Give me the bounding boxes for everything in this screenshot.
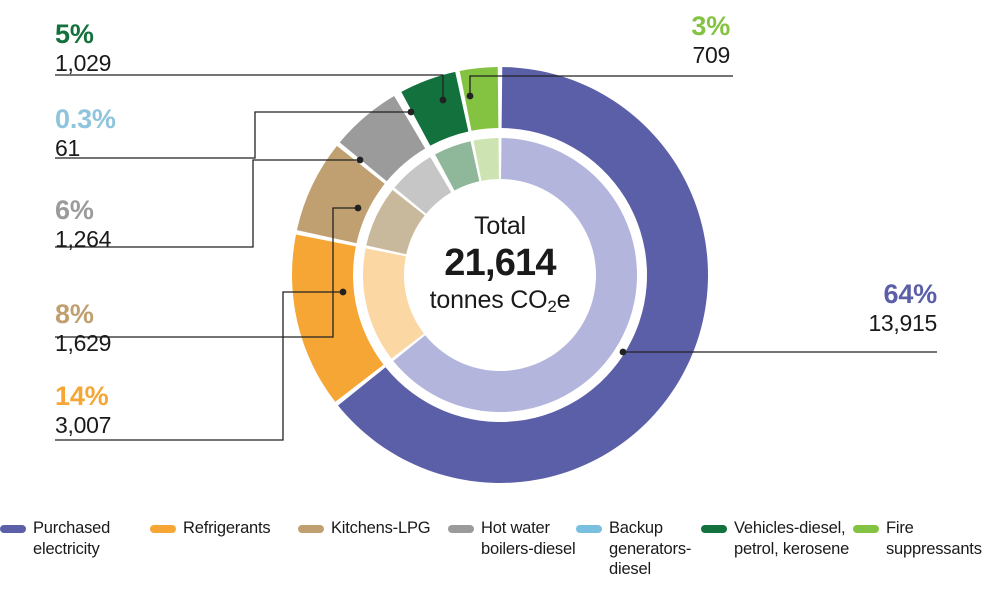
callout-purchased-electricity-percent: 64% xyxy=(800,280,937,308)
leader-dot-kitchens-lpg xyxy=(355,205,362,212)
callout-kitchens-lpg-value: 1,629 xyxy=(55,331,111,355)
callout-hot-water-boilers-value: 1,264 xyxy=(55,227,111,251)
leader-dot-backup-generators xyxy=(408,109,415,116)
callout-refrigerants-value: 3,007 xyxy=(55,413,111,437)
leader-dot-fire-suppressants xyxy=(467,93,474,100)
legend-swatch-icon xyxy=(448,525,474,533)
legend-item-hot-water-boilers-diesel[interactable]: Hot water boilers-diesel xyxy=(448,518,576,559)
legend-item-fire-suppressants[interactable]: Fire suppressants xyxy=(853,518,973,559)
legend-swatch-icon xyxy=(0,525,26,533)
callout-fire-suppressants-value: 709 xyxy=(600,43,730,67)
legend-label: Vehicles-diesel, petrol, kerosene xyxy=(734,518,853,559)
donut-outer-ring xyxy=(292,67,708,483)
callout-fire-suppressants-percent: 3% xyxy=(600,12,730,40)
callout-vehicles-value: 1,029 xyxy=(55,51,111,75)
legend-swatch-icon xyxy=(298,525,324,533)
callout-backup-generators-percent: 0.3% xyxy=(55,105,116,133)
callout-kitchens-lpg: 8% 1,629 xyxy=(55,300,111,355)
callout-refrigerants: 14% 3,007 xyxy=(55,382,111,437)
leader-dot-vehicles xyxy=(440,97,447,104)
legend-label: Refrigerants xyxy=(183,518,270,539)
legend-item-backup-generators-diesel[interactable]: Backup generators-diesel xyxy=(576,518,701,580)
leader-dot-hot-water-boilers xyxy=(357,157,364,164)
callout-purchased-electricity: 64% 13,915 xyxy=(800,280,937,335)
callout-purchased-electricity-value: 13,915 xyxy=(800,311,937,335)
callout-backup-generators-value: 61 xyxy=(55,136,116,160)
callout-refrigerants-percent: 14% xyxy=(55,382,111,410)
leader-line-vehicles xyxy=(55,75,443,100)
leader-dot-refrigerants xyxy=(340,289,347,296)
legend-swatch-icon xyxy=(576,525,602,533)
legend-swatch-icon xyxy=(150,525,176,533)
legend-item-kitchens-lpg[interactable]: Kitchens-LPG xyxy=(298,518,448,539)
legend-label: Backup generators-diesel xyxy=(609,518,701,580)
leader-dot-purchased-electricity xyxy=(620,349,627,356)
chart-canvas: Total 21,614 tonnes CO2e 5% 1,029 0.3% 6… xyxy=(0,0,1000,600)
callout-hot-water-boilers-percent: 6% xyxy=(55,196,111,224)
legend-label: Fire suppressants xyxy=(886,518,982,559)
callout-backup-generators: 0.3% 61 xyxy=(55,105,116,160)
callout-fire-suppressants: 3% 709 xyxy=(600,12,730,67)
callout-vehicles-percent: 5% xyxy=(55,20,111,48)
legend-label: Kitchens-LPG xyxy=(331,518,430,539)
callout-kitchens-lpg-percent: 8% xyxy=(55,300,111,328)
legend-item-refrigerants[interactable]: Refrigerants xyxy=(150,518,298,539)
donut-slice-refrigerants[interactable] xyxy=(363,248,424,358)
callout-vehicles: 5% 1,029 xyxy=(55,20,111,75)
legend-swatch-icon xyxy=(853,525,879,533)
legend-item-purchased-electricity[interactable]: Purchased electricity xyxy=(0,518,150,559)
legend-swatch-icon xyxy=(701,525,727,533)
callout-hot-water-boilers: 6% 1,264 xyxy=(55,196,111,251)
legend-label: Hot water boilers-diesel xyxy=(481,518,576,559)
chart-legend: Purchased electricityRefrigerantsKitchen… xyxy=(0,518,1000,600)
legend-item-vehicles-diesel-petrol-kerosene[interactable]: Vehicles-diesel, petrol, kerosene xyxy=(701,518,853,559)
legend-label: Purchased electricity xyxy=(33,518,150,559)
donut-inner-ring xyxy=(363,138,637,412)
